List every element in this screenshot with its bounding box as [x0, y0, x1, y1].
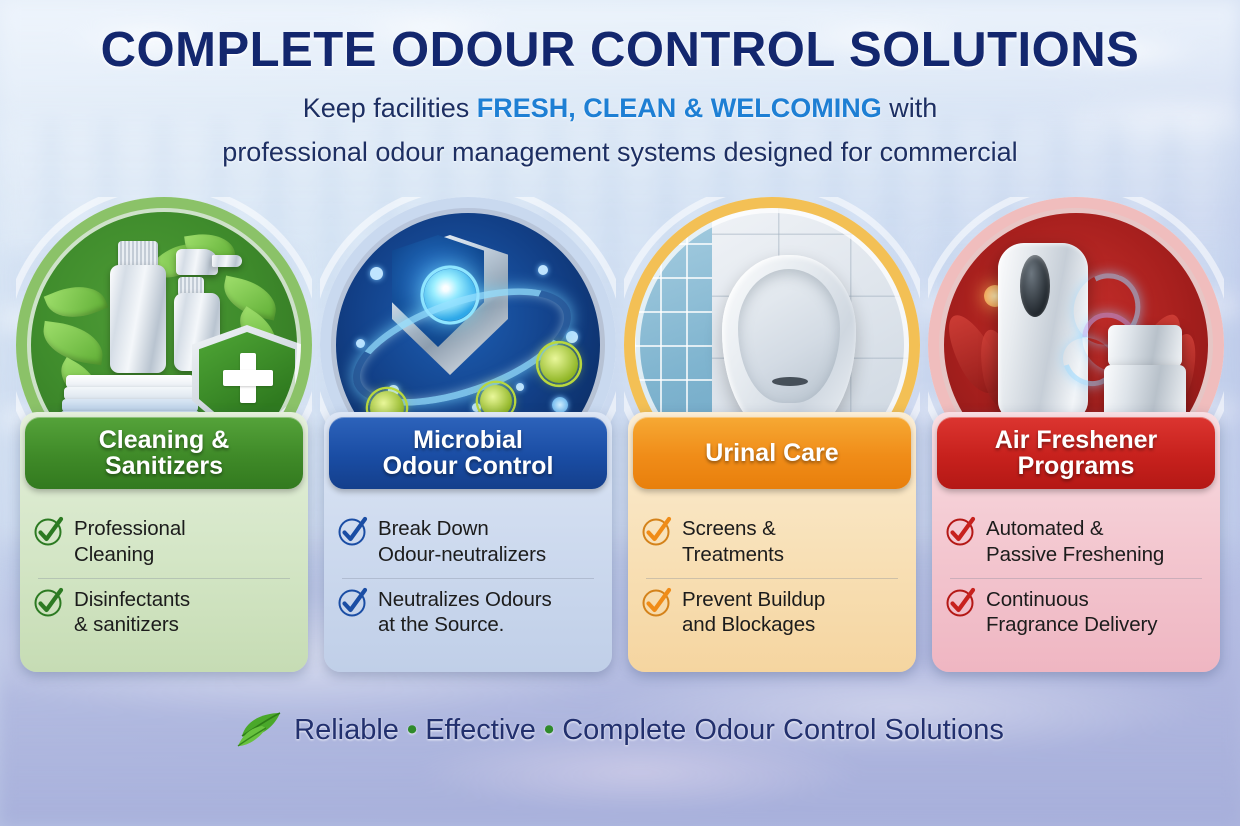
check-circle-icon: [642, 517, 672, 547]
card-air-freshener-programs[interactable]: Air Freshener Programs Automate: [926, 197, 1226, 687]
bullet-line1: Professional: [74, 517, 186, 540]
bullet-line2: Treatments: [682, 543, 784, 566]
list-item: Automated & Passive Freshening: [946, 510, 1206, 576]
card-title-line1: Air Freshener: [995, 426, 1158, 454]
footer: Reliable • Effective • Complete Odour Co…: [0, 700, 1240, 760]
bullet-line2: and Blockages: [682, 613, 815, 636]
bullet-line1: Break Down: [378, 517, 489, 540]
air-freshener-medallion: [938, 207, 1214, 427]
list-divider: [38, 578, 290, 579]
list-item-text: Automated & Passive Freshening: [986, 516, 1164, 568]
panel-body-urinal: Screens & Treatments Pr: [628, 494, 916, 672]
panel-microbial-odour-control: Microbial Odour Control Break D: [324, 412, 612, 672]
check-circle-icon: [34, 588, 64, 618]
bullet-line1: Neutralizes Odours: [378, 588, 552, 611]
bullet-line2: Fragrance Delivery: [986, 613, 1157, 636]
subtitle-pre: Keep facilities: [303, 93, 477, 123]
list-item: Neutralizes Odours at the Source.: [338, 581, 598, 647]
list-item: Break Down Odour-neutralizers: [338, 510, 598, 576]
bullet-line1: Disinfectants: [74, 588, 190, 611]
footer-item-2: Effective: [425, 714, 536, 746]
bullet-line2: at the Source.: [378, 613, 504, 636]
header: COMPLETE ODOUR CONTROL SOLUTIONS Keep fa…: [0, 0, 1240, 168]
card-title-cleaning-sanitizers: Cleaning & Sanitizers: [25, 417, 303, 489]
card-title-line2: Programs: [1018, 452, 1135, 480]
footer-item-3: Complete Odour Control Solutions: [562, 714, 1004, 746]
card-microbial-odour-control[interactable]: Microbial Odour Control Break D: [318, 197, 618, 687]
panel-body-cleaning: Professional Cleaning D: [20, 494, 308, 672]
card-title-line2: Sanitizers: [105, 452, 223, 480]
check-circle-icon: [338, 517, 368, 547]
list-item: Disinfectants & sanitizers: [34, 581, 294, 647]
list-item-text: Screens & Treatments: [682, 516, 784, 568]
list-item-text: Break Down Odour-neutralizers: [378, 516, 546, 568]
card-cleaning-sanitizers[interactable]: Cleaning & Sanitizers Professio: [14, 197, 314, 687]
medallion-urinal: [624, 197, 920, 427]
panel-air-freshener-programs: Air Freshener Programs Automate: [932, 412, 1220, 672]
card-grid: Cleaning & Sanitizers Professio: [14, 197, 1226, 687]
medallion-cleaning: [16, 197, 312, 427]
bullet-line2: & sanitizers: [74, 613, 179, 636]
bullet-line2: Passive Freshening: [986, 543, 1164, 566]
bullet-line1: Automated &: [986, 517, 1103, 540]
bullet-line2: Cleaning: [74, 543, 154, 566]
bullet-line1: Screens &: [682, 517, 776, 540]
card-title-line2: Odour Control: [383, 452, 554, 480]
leaf-icon: [236, 710, 282, 750]
card-title-air-freshener-programs: Air Freshener Programs: [937, 417, 1215, 489]
panel-body-air-freshener: Automated & Passive Freshening: [932, 494, 1220, 672]
page-title: COMPLETE ODOUR CONTROL SOLUTIONS: [0, 22, 1240, 78]
bullet-line1: Continuous: [986, 588, 1089, 611]
panel-body-microbial: Break Down Odour-neutralizers: [324, 494, 612, 672]
subtitle-post: with: [882, 93, 938, 123]
list-item-text: Continuous Fragrance Delivery: [986, 587, 1157, 639]
card-title-urinal-care: Urinal Care: [633, 417, 911, 489]
list-item-text: Professional Cleaning: [74, 516, 186, 568]
list-item-text: Prevent Buildup and Blockages: [682, 587, 825, 639]
medallion-microbial: [320, 197, 616, 427]
panel-cleaning-sanitizers: Cleaning & Sanitizers Professio: [20, 412, 308, 672]
card-title-microbial-odour-control: Microbial Odour Control: [329, 417, 607, 489]
list-item-text: Disinfectants & sanitizers: [74, 587, 190, 639]
list-item-text: Neutralizes Odours at the Source.: [378, 587, 552, 639]
footer-tagline: Reliable • Effective • Complete Odour Co…: [294, 714, 1004, 747]
subtitle-highlight: FRESH, CLEAN & WELCOMING: [477, 93, 882, 123]
cleaning-supplies-medallion: [26, 207, 302, 427]
list-item: Screens & Treatments: [642, 510, 902, 576]
urinal-medallion: [634, 207, 910, 427]
list-item: Professional Cleaning: [34, 510, 294, 576]
card-title-line1: Urinal Care: [705, 440, 838, 467]
subtitle-line-1: Keep facilities FRESH, CLEAN & WELCOMING…: [0, 93, 1240, 124]
list-divider: [950, 578, 1202, 579]
check-circle-icon: [946, 588, 976, 618]
list-item: Continuous Fragrance Delivery: [946, 581, 1206, 647]
card-title-line1: Cleaning &: [99, 426, 230, 454]
check-circle-icon: [946, 517, 976, 547]
check-circle-icon: [642, 588, 672, 618]
bullet-line1: Prevent Buildup: [682, 588, 825, 611]
check-circle-icon: [34, 517, 64, 547]
panel-urinal-care: Urinal Care Screens & Treatments: [628, 412, 916, 672]
subtitle-line-2: professional odour management systems de…: [0, 137, 1240, 168]
list-item: Prevent Buildup and Blockages: [642, 581, 902, 647]
medallion-air-freshener: [928, 197, 1224, 427]
card-urinal-care[interactable]: Urinal Care Screens & Treatments: [622, 197, 922, 687]
card-title-line1: Microbial: [413, 426, 523, 454]
bullet-line2: Odour-neutralizers: [378, 543, 546, 566]
list-divider: [646, 578, 898, 579]
footer-item-1: Reliable: [294, 714, 399, 746]
footer-dot-2: •: [544, 714, 554, 746]
footer-dot-1: •: [407, 714, 417, 746]
microbial-shield-medallion: [330, 207, 606, 427]
check-circle-icon: [338, 588, 368, 618]
list-divider: [342, 578, 594, 579]
poster-root: COMPLETE ODOUR CONTROL SOLUTIONS Keep fa…: [0, 0, 1240, 826]
